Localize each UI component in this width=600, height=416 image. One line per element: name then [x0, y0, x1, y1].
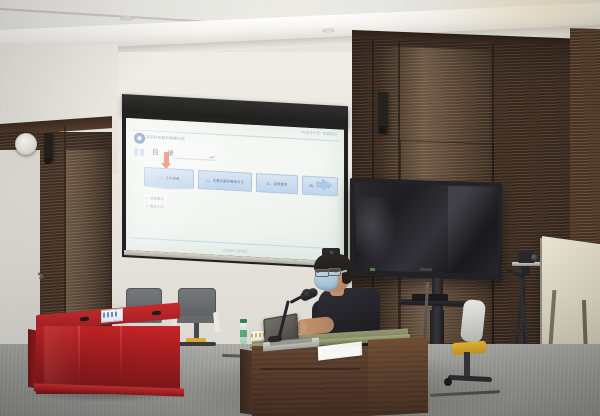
slide-sub-line: 2. 重点工作 — [146, 203, 164, 209]
camera-lens-icon — [531, 254, 538, 261]
red-table-sheen — [44, 326, 96, 392]
mesh-chair-seat[interactable] — [176, 316, 216, 323]
slide-arrow-down-icon — [164, 152, 169, 163]
task-chair-caster — [444, 378, 452, 386]
red-table-fold — [78, 326, 80, 394]
mesh-chair-base — [178, 342, 216, 346]
presenter-hair-side — [342, 262, 353, 284]
slide-org-name: 某某科技股份有限公司 — [146, 135, 185, 142]
wall-speaker-right-bracket — [379, 126, 386, 133]
wall-clock — [15, 133, 37, 155]
slide-arrow-right-icon — [322, 179, 333, 192]
av-receiver-box[interactable] — [412, 294, 448, 301]
eyeglasses-lens-left — [315, 269, 329, 277]
task-chair-back[interactable] — [460, 299, 486, 343]
slide-sub-line: 1. 总体情况 — [146, 195, 164, 201]
slide-step-box-2: 二、主要问题及整改分工 — [198, 170, 252, 192]
slide-header-text: "安全生产月" 专题培训 — [301, 129, 337, 136]
tv-brand-logo — [420, 268, 432, 271]
presentation-slide: "安全生产月" 专题培训 某某科技股份有限公司 目 录 一、工作进展 二、主要问… — [126, 118, 344, 262]
podium-panel-line — [260, 368, 360, 370]
conference-room-photo: "安全生产月" 专题培训 某某科技股份有限公司 目 录 一、工作进展 二、主要问… — [0, 0, 600, 416]
tv-screen-reflection — [356, 196, 396, 263]
eyeglasses-lens-right — [328, 268, 341, 276]
company-logo-icon — [134, 132, 145, 144]
tv-power-led — [370, 268, 375, 271]
water-bottle-cap — [240, 319, 247, 323]
wall-speaker-left-bracket — [45, 158, 51, 164]
ceiling-downlight — [120, 16, 134, 21]
red-table-fold — [120, 326, 122, 394]
projection-screen-canvas[interactable]: "安全生产月" 专题培训 某某科技股份有限公司 目 录 一、工作进展 二、主要问… — [126, 118, 344, 262]
tv-screen-glare — [448, 186, 494, 271]
slide-step-box-1: 一、工作进展 — [144, 167, 194, 189]
ceiling-downlight — [322, 28, 335, 33]
slide-quote-mark-icon — [134, 148, 147, 156]
slide-step-box-3: 三、监管要求 — [256, 173, 298, 194]
wood-wall-left-highlight — [66, 150, 110, 320]
water-bottle-label — [240, 330, 247, 337]
task-chair-gas-lift — [464, 352, 470, 378]
